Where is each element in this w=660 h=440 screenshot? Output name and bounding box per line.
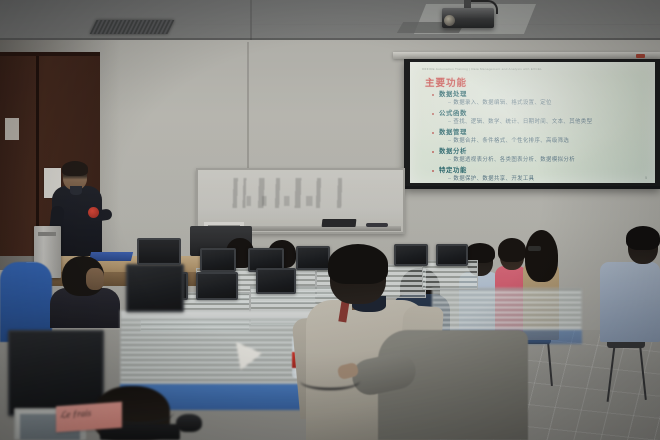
lab-monitor [256,268,296,294]
slide-section: 公式函数 查找、逻辑、数学、统计、日期时间、文本、其他类型 [432,109,647,126]
lab-monitor [394,244,428,266]
slide-header-note: OFFICE Automation Training | Data Manage… [422,67,542,71]
slide-section-sub: 数据合并、条件格式、个性化排序、高级筛选 [432,137,647,145]
glasses-icon [528,246,541,251]
slide-section: 数据处理 数据录入、数据编辑、格式设置、定位 [432,90,647,107]
screen-bottom-edge [404,186,660,189]
presenter-shirt-logo [88,207,99,218]
teacher-monitor [137,238,181,265]
attendee-hair [525,230,558,282]
slide-section-sub: 数据透视表分析、各类图表分析、数据模拟分析 [432,156,647,164]
whiteboard-marker-icon [366,223,388,227]
whiteboard-eraser-icon [322,219,357,227]
ceiling-vent-icon [90,20,175,34]
lab-monitor [126,264,184,312]
presenter-hair [62,161,88,176]
slide-section: 数据分析 数据透视表分析、各类图表分析、数据模拟分析 [432,147,647,164]
slide-section-sub: 数据保护、数据共享、开发工具 [432,175,647,183]
slide-title: 主要功能 [425,75,467,89]
slide-section-sub: 查找、逻辑、数学、统计、日期时间、文本、其他类型 [432,118,647,126]
classroom-photo: OFFICE Automation Training | Data Manage… [0,0,660,440]
presentation-slide: OFFICE Automation Training | Data Manage… [410,62,655,183]
posted-notice-paper-secondary [5,118,19,140]
attendee-face [86,268,104,290]
slide-page-number: 5 [645,176,647,180]
slide-section-sub: 数据录入、数据编辑、格式设置、定位 [432,99,647,107]
slide-section-heading: 数据处理 [432,90,647,99]
attendee-hair [328,244,388,284]
mouse-icon [176,414,202,432]
lab-monitor [296,246,330,270]
slide-section-heading: 特定功能 [432,166,647,175]
cubicle-divider-panel [120,318,320,384]
lab-monitor [200,248,236,272]
attendee-torso [600,262,660,342]
pc-tower-drive-bay [38,232,56,236]
slide-section-heading: 数据管理 [432,128,647,137]
slide-section-heading: 数据分析 [432,147,647,156]
projector-lens-icon [444,15,455,26]
desk-cable [300,372,360,390]
lab-monitor [436,244,468,266]
slide-section: 数据管理 数据合并、条件格式、个性化排序、高级筛选 [432,128,647,145]
slide-section: 特定功能 数据保护、数据共享、开发工具 [432,166,647,183]
whiteboard-writing-second-line [240,196,350,206]
screen-housing [393,52,660,59]
slide-section-heading: 公式函数 [432,109,647,118]
attendee-hair [626,226,660,250]
slide-bullet-list: 数据处理 数据录入、数据编辑、格式设置、定位 公式函数 查找、逻辑、数学、统计、… [432,90,647,183]
lab-monitor [196,272,238,300]
screen-housing-knob [636,54,645,58]
presenter-collar [70,186,82,195]
cubicle-divider-panel [432,288,582,330]
